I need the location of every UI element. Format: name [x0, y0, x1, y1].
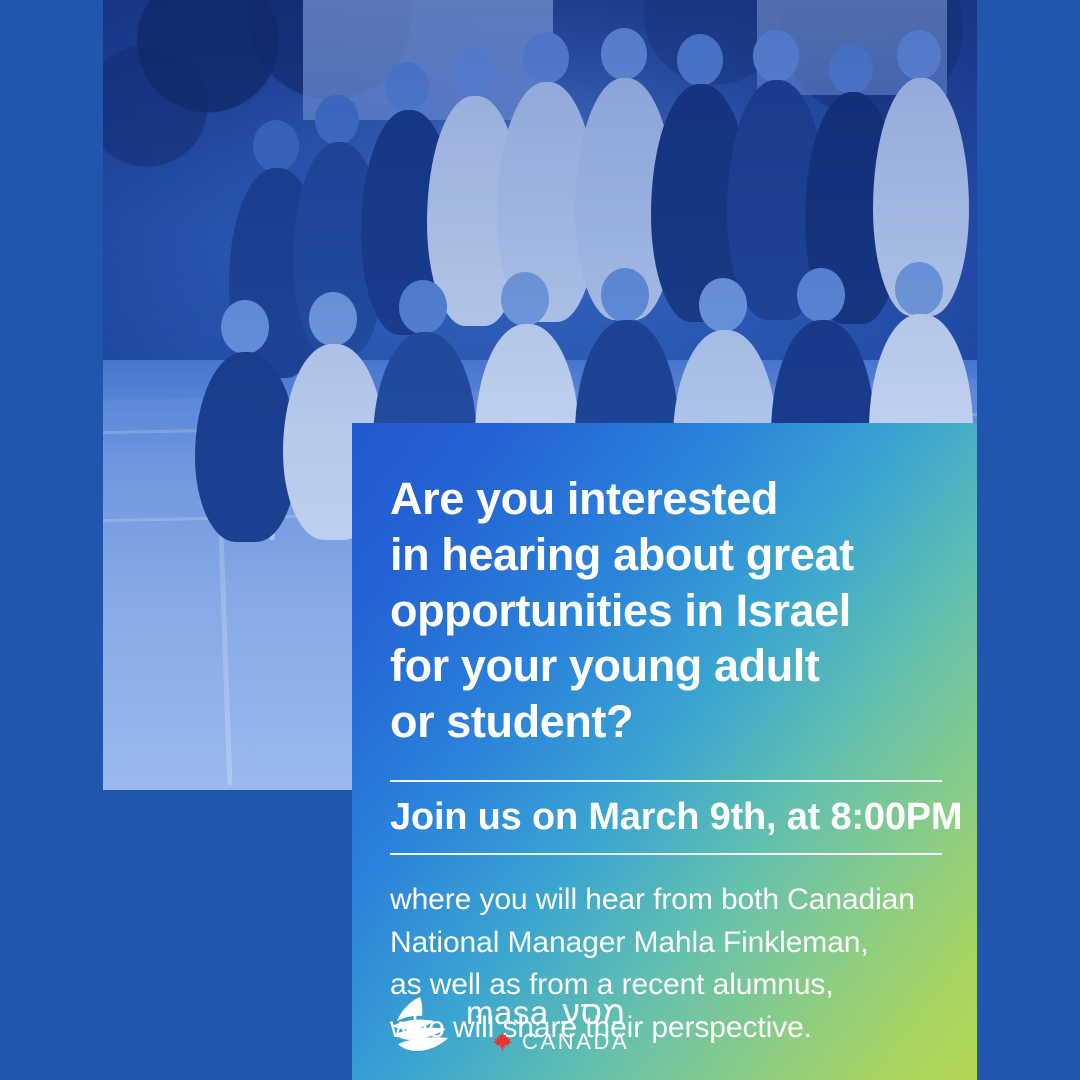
headline-line-4: for your young adult — [390, 638, 939, 694]
info-panel: Are you interested in hearing about grea… — [352, 423, 977, 1080]
body-line-1: where you will hear from both Canadian — [390, 879, 939, 922]
body-line-2: National Manager Mahla Finkleman, — [390, 922, 939, 965]
logo-wordmark: masa מסע — [466, 996, 629, 1029]
masa-wave-mark-icon — [390, 995, 452, 1053]
page-title: Are you interested in hearing about grea… — [390, 461, 939, 750]
wordmark-hebrew: מסע — [561, 996, 626, 1029]
headline-line-5: or student? — [390, 694, 939, 750]
logo-country-row: CANADA — [466, 1031, 629, 1053]
headline-line-3: opportunities in Israel — [390, 583, 939, 639]
headline-line-2: in hearing about great — [390, 527, 939, 583]
poster: Are you interested in hearing about grea… — [0, 0, 1080, 1080]
headline-line-1: Are you interested — [390, 471, 939, 527]
event-dateline: Join us on March 9th, at 8:00PM — [390, 782, 939, 853]
maple-leaf-icon — [492, 1031, 513, 1052]
logo-text-block: masa מסע CANADA — [466, 996, 629, 1053]
masa-canada-logo: masa מסע CANADA — [390, 995, 629, 1053]
logo-country-label: CANADA — [522, 1031, 629, 1053]
wordmark-latin: masa — [466, 996, 549, 1029]
